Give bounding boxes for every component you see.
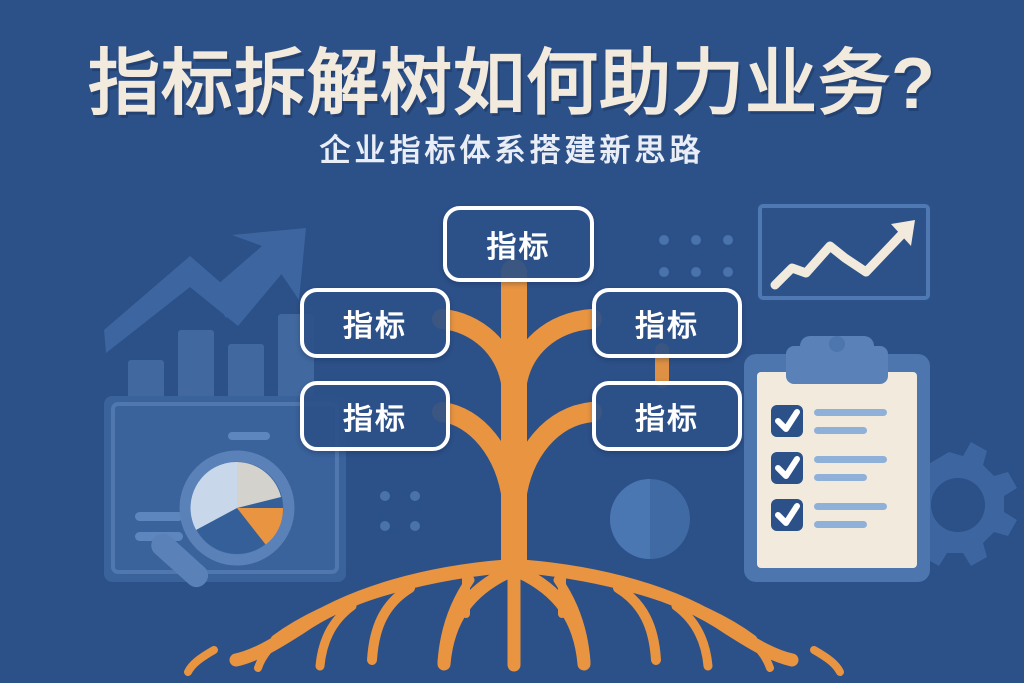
metric-node-left-2[interactable]: 指标 <box>300 381 450 451</box>
metric-node-left-1[interactable]: 指标 <box>300 288 450 358</box>
metric-node-root[interactable]: 指标 <box>443 206 594 282</box>
tree-roots <box>188 556 840 672</box>
branch-upper-right <box>516 319 592 390</box>
metric-node-right-2[interactable]: 指标 <box>592 381 742 451</box>
branch-lower-right <box>516 412 592 500</box>
metric-node-right-1[interactable]: 指标 <box>592 288 742 358</box>
metric-tree-graphic <box>0 0 1024 683</box>
poster-canvas: 指标拆解树如何助力业务? 企业指标体系搭建新思路 指标 指标 指标 指标 指标 <box>0 0 1024 683</box>
